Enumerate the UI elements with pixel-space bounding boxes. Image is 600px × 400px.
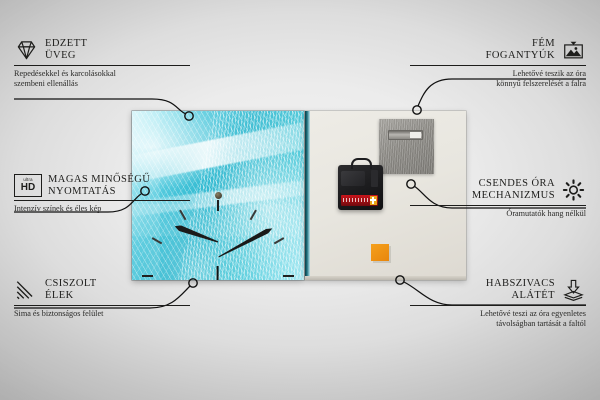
battery (341, 195, 378, 206)
mechanism-hanger-loop (351, 158, 372, 169)
callout-csiszolt-elek: CSISZOLT ÉLEK Sima és biztonságos felüle… (14, 278, 190, 319)
callout-subtitle-line1: Sima és biztonságos felület (14, 309, 103, 318)
callout-subtitle-line1: Repedésekkel és karcolásokkal (14, 69, 116, 78)
callout-rule (410, 305, 586, 306)
callout-subtitle: Intenzív színek és éles kép (14, 204, 190, 214)
clock-center-cap (215, 192, 222, 199)
callout-rule (14, 305, 190, 306)
callout-subtitle-line1: Lehetővé teszi az óra egyenletes (480, 309, 586, 318)
callout-title: CSENDES ÓRA MECHANIZMUS (472, 178, 555, 201)
clock-tick-3 (218, 275, 298, 277)
callout-csendes-ora-mechanizmus: CSENDES ÓRA MECHANIZMUS Óramutatók hang … (410, 178, 586, 219)
callout-title: CSISZOLT ÉLEK (45, 278, 97, 301)
callout-edzett-uveg: EDZETT ÜVEG Repedésekkel és karcolásokka… (14, 38, 190, 88)
badge-large-text: HD (21, 183, 35, 193)
callout-habszivacs-alatet: HABSZIVACS ALÁTÉT Lehetővé teszi az óra … (410, 278, 586, 328)
callout-title-line1: CSENDES ÓRA (479, 178, 555, 189)
callout-subtitle: Lehetővé teszi az óra egyenletes távolsá… (410, 309, 586, 328)
callout-rule (410, 205, 586, 206)
infographic-canvas: EDZETT ÜVEG Repedésekkel és karcolásokka… (0, 0, 600, 400)
callout-title-line1: MAGAS MINŐSÉGŰ (48, 174, 150, 185)
callout-title: EDZETT ÜVEG (45, 38, 87, 61)
callout-subtitle: Óramutatók hang nélkül (410, 209, 586, 219)
callout-title-line2: FOGANTYÚK (486, 50, 555, 61)
ultra-hd-badge-icon: ultra HD (14, 174, 42, 197)
arrow-onto-layers-icon (561, 278, 586, 302)
callout-subtitle: Lehetővé teszik az óra könnyű felszerelé… (410, 69, 586, 88)
callout-subtitle-line2: könnyű felszerelését a falra (496, 79, 586, 88)
foam-pad (371, 244, 389, 261)
gear-icon (561, 178, 586, 202)
clock-tick-12 (217, 196, 219, 276)
callout-title-line1: CSISZOLT (45, 278, 97, 289)
callout-rule (14, 65, 190, 66)
callout-rule (14, 200, 190, 201)
callout-magas-minosegu-nyomtatas: ultra HD MAGAS MINŐSÉGŰ NYOMTATÁS Intenz… (14, 174, 190, 214)
callout-title-line1: FÉM (532, 38, 555, 49)
callout-subtitle-line1: Óramutatók hang nélkül (506, 209, 586, 218)
callout-fem-fogantyuk: FÉM FOGANTYÚK Lehetővé teszik az óra kön… (410, 38, 586, 88)
mechanism-panel-b (371, 170, 378, 187)
clock-mechanism (338, 165, 383, 210)
callout-title-line2: NYOMTATÁS (48, 186, 116, 197)
callout-subtitle-line1: Intenzív színek és éles kép (14, 204, 101, 213)
callout-title-line2: ÉLEK (45, 290, 74, 301)
mechanism-panel-a (341, 171, 365, 186)
callout-title: MAGAS MINŐSÉGŰ NYOMTATÁS (48, 174, 150, 197)
hanger-slot (388, 130, 423, 140)
clock-second-hand (217, 266, 219, 281)
callout-title: FÉM FOGANTYÚK (486, 38, 555, 61)
callout-subtitle-line1: Lehetővé teszik az óra (513, 69, 586, 78)
callout-title-line2: ALÁTÉT (511, 290, 555, 301)
metal-hanger-plate (379, 119, 434, 174)
callout-subtitle-line2: távolságban tartását a faltól (496, 319, 586, 328)
callout-subtitle: Repedésekkel és karcolásokkal szembeni e… (14, 69, 190, 88)
callout-title-line1: HABSZIVACS (486, 278, 555, 289)
diamond-icon (14, 38, 39, 62)
diagonal-lines-icon (14, 278, 39, 302)
callout-title-line2: ÜVEG (45, 50, 76, 61)
callout-title-line1: EDZETT (45, 38, 87, 49)
picture-frame-hanger-icon (561, 38, 586, 62)
clock-tick-9 (138, 275, 218, 277)
callout-subtitle: Sima és biztonságos felület (14, 309, 190, 319)
callout-rule (410, 65, 586, 66)
callout-subtitle-line2: szembeni ellenállás (14, 79, 78, 88)
clock-side-edge (305, 111, 310, 280)
callout-title: HABSZIVACS ALÁTÉT (486, 278, 555, 301)
callout-title-line2: MECHANIZMUS (472, 190, 555, 201)
